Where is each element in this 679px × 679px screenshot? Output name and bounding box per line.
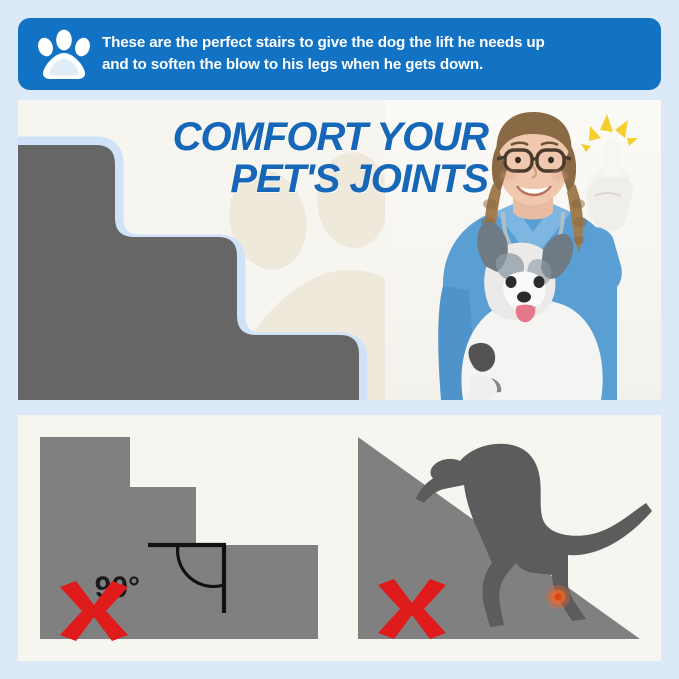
- paw-print-icon: [34, 27, 94, 81]
- bottom-comparison-panel: 90°: [18, 415, 661, 661]
- hero-headline-line-1: COMFORT YOUR: [138, 116, 488, 158]
- hero-panel: COMFORT YOUR PET'S JOINTS: [18, 100, 661, 400]
- square-step-stairs-diagram: 90°: [18, 415, 340, 661]
- banner-text-line-1: These are the perfect stairs to give the…: [102, 32, 545, 55]
- banner-text: These are the perfect stairs to give the…: [102, 32, 545, 77]
- hero-headline-line-2: PET'S JOINTS: [138, 158, 488, 200]
- header-banner: These are the perfect stairs to give the…: [18, 18, 661, 90]
- hero-headline: COMFORT YOUR PET'S JOINTS: [138, 116, 488, 201]
- steep-ramp-dog-diagram: [340, 415, 661, 661]
- banner-text-line-2: and to soften the blow to his legs when …: [102, 54, 545, 77]
- infographic-page: These are the perfect stairs to give the…: [0, 0, 679, 679]
- joint-pain-indicator: [546, 585, 570, 609]
